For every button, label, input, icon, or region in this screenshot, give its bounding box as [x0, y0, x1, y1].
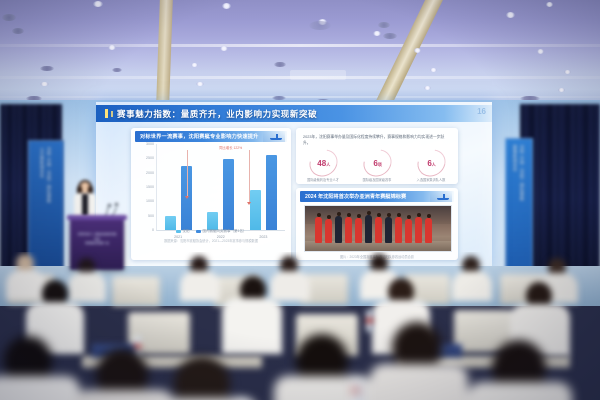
athlete-figure: [415, 217, 422, 243]
athlete-figure: [405, 219, 412, 243]
slide-page-number: 16: [477, 107, 486, 116]
side-banner-left-text: 沈阳·中国（沈阳）国际赛艇 公开赛新闻发布: [39, 147, 53, 203]
bar-group-2022: 2022: [200, 144, 242, 230]
downlight-icon: [196, 82, 204, 86]
stats-lead-text: 2023年，沈阳赛事举办量及国际化程度持续攀升，赛事规格和影响力均实现进一步跃升…: [303, 134, 451, 146]
rowing-boat-icon: [263, 131, 285, 142]
downlight-icon: [222, 3, 231, 9]
downlight-icon: [12, 28, 24, 34]
stat-caption: 国际级裁判及专业人才: [307, 177, 339, 182]
audience-body: [6, 270, 46, 300]
y-tick-label: 500: [148, 214, 154, 218]
downlight-icon: [373, 31, 381, 36]
bar-benchmark-2023: [266, 155, 277, 230]
downlight-icon: [40, 82, 49, 86]
downlight-icon: [378, 22, 390, 28]
downlight-icon: [108, 45, 116, 50]
water-bottle: [352, 380, 363, 400]
stat-value: 6项: [373, 159, 381, 168]
downlight-icon: [191, 63, 198, 67]
conference-scene: 沈阳·中国（沈阳）国际赛艇 公开赛新闻发布 沈阳·中国（沈阳）国际赛艇 赛事新闻…: [0, 0, 600, 400]
y-tick-label: 1500: [146, 185, 154, 189]
stat-item: 6项 国际级及国家级赛事: [358, 150, 396, 182]
stat-caption: 国际级及国家级赛事: [363, 177, 392, 182]
ceiling-band: [0, 96, 600, 98]
athlete-figure: [325, 219, 332, 243]
slide-title-bar: 赛事魅力指数：量质齐升，业内影响力实现新突破: [96, 105, 492, 122]
chart-card: 对标世界一流赛事，沈阳赛艇专业影响力快速提升 3000 2500 2000 15…: [131, 128, 291, 260]
downlight-icon: [309, 21, 331, 30]
chart-source-note: 数据来源：沈阳市赛艇协会统计，2021—2023年赛事参与规模数据: [135, 238, 287, 243]
downlight-icon: [40, 66, 54, 71]
downlight-icon: [424, 86, 431, 90]
downlight-icon: [383, 33, 397, 39]
y-axis: 3000 2500 2000 1500 1000 500 0: [135, 144, 155, 230]
legend-swatch-icon: [196, 230, 201, 233]
athlete-figure: [385, 217, 392, 243]
y-tick-label: 3000: [146, 142, 154, 146]
title-accent-bar-icon: [105, 109, 108, 118]
audience-body: [68, 272, 106, 302]
chair: [112, 276, 160, 306]
title-accent-bar-icon: [111, 111, 113, 117]
speaker-shirt: [82, 194, 88, 216]
audience-area: 嘉 宾 嘉 宾 嘉 宾: [0, 252, 600, 400]
podium-sign: 沈阳市第十二届运动会新闻发布会 暨赛艇项目推介会: [77, 232, 117, 246]
legend-swatch-icon: [176, 230, 181, 233]
y-tick-label: 2500: [146, 156, 154, 160]
stat-caption: 入选国家集训队人数: [417, 177, 446, 182]
legend-label: 沈阳: [183, 229, 190, 234]
downlight-icon: [220, 46, 228, 51]
photo-card: 2024 年沈阳将首次举办亚洲青年赛艇锦标赛 图片：2023年全国赛艇锦标赛: [296, 188, 458, 260]
downlight-icon: [414, 48, 421, 53]
podium-top-edge: [67, 215, 127, 220]
athlete-figure: [345, 217, 352, 243]
audience-body: [452, 271, 492, 301]
photo-banner-label: 2024 年沈阳将首次举办亚洲青年赛艇锦标赛: [305, 193, 406, 200]
chart-banner: 对标世界一流赛事，沈阳赛艇专业影响力快速提升: [135, 131, 287, 142]
chart-banner-label: 对标世界一流赛事，沈阳赛艇专业影响力快速提升: [140, 133, 259, 140]
stat-item: 6人 入选国家集训队人数: [412, 150, 450, 182]
annotation-growth-label: 同比增长 122%: [219, 145, 242, 150]
downlight-icon: [564, 70, 571, 74]
side-banner-right-text: 沈阳·中国（沈阳）国际赛艇 赛事新闻发布: [512, 145, 526, 201]
downlight-icon: [558, 88, 565, 92]
microphone-head-icon: [115, 203, 118, 206]
stats-row: 48人 国际级裁判及专业人才 6项 国际级及国家级赛事 6人 入选国家集训队人数: [296, 150, 458, 182]
downlight-icon: [430, 68, 437, 72]
bar-shenyang-2023: [250, 190, 261, 230]
audience-body: [270, 271, 310, 301]
bar-group-2021: 2021: [157, 144, 199, 230]
y-tick-label: 1000: [146, 199, 154, 203]
annotation-leader-line: [187, 150, 188, 196]
team-photo: [304, 205, 452, 252]
bar-shenyang-2022: [207, 212, 218, 230]
downlight-icon: [112, 68, 122, 72]
ceiling-beam-vertical: [156, 0, 173, 104]
ceiling-vent: [290, 70, 346, 80]
chart-legend: 沈阳 国内赛艇同类赛事（第1名）: [135, 229, 287, 234]
downlight-icon: [274, 62, 286, 67]
athlete-figure: [335, 216, 342, 243]
water-bottle: [366, 310, 373, 332]
downlight-icon: [2, 14, 16, 21]
stat-value: 6人: [427, 159, 435, 168]
audience-body: [180, 271, 220, 301]
rowing-boat-icon: [430, 191, 452, 202]
bar-shenyang-2021: [165, 216, 176, 230]
legend-item-benchmark: 国内赛艇同类赛事（第1名）: [196, 229, 247, 234]
audience-body: [370, 364, 468, 400]
audience-body: [0, 376, 80, 400]
stats-card: 2023年，沈阳赛事举办量及国际化程度持续攀升，赛事规格和影响力均实现进一步跃升…: [296, 128, 458, 184]
ceiling-band: [0, 44, 600, 47]
podium-sign-line-2: 暨赛艇项目推介会: [77, 241, 117, 246]
athlete-figure: [395, 217, 402, 243]
downlight-icon: [506, 12, 515, 18]
podium-sign-line-1: 沈阳市第十二届运动会新闻发布会: [77, 232, 117, 241]
plot-area: 2021 2022 2023: [156, 144, 285, 231]
bar-benchmark-2022: [223, 159, 234, 230]
athlete-figure: [315, 217, 322, 243]
annotation-leader-line: [249, 150, 250, 202]
downlight-icon: [546, 2, 553, 7]
page-title: 赛事魅力指数：量质齐升，业内影响力实现新突破: [117, 108, 317, 120]
annotation-arrow-icon: [185, 196, 189, 199]
athlete-figure: [355, 218, 362, 243]
audience-body: [468, 382, 572, 400]
downlight-icon: [93, 1, 103, 7]
annotation-arrow-icon: [247, 202, 251, 205]
photo-banner: 2024 年沈阳将首次举办亚洲青年赛艇锦标赛: [300, 191, 454, 202]
bar-chart: 3000 2500 2000 1500 1000 500 0 2021: [135, 144, 287, 244]
projection-screen: 赛事魅力指数：量质齐升，业内影响力实现新突破 16 对标世界一流赛事，沈阳赛艇专…: [96, 102, 492, 270]
athlete-figure: [365, 215, 372, 243]
stat-value: 48人: [317, 159, 330, 168]
y-tick-label: 2000: [146, 171, 154, 175]
legend-item-shenyang: 沈阳: [176, 229, 190, 234]
ceiling: [0, 0, 600, 104]
microphone-head-icon: [108, 204, 111, 207]
athlete-figure: [425, 218, 432, 243]
athlete-figure: [375, 217, 382, 243]
downlight-icon: [537, 49, 544, 54]
stat-item: 48人 国际级裁判及专业人才: [304, 150, 342, 182]
legend-label: 国内赛艇同类赛事（第1名）: [203, 229, 247, 234]
audience-body: [222, 298, 282, 354]
